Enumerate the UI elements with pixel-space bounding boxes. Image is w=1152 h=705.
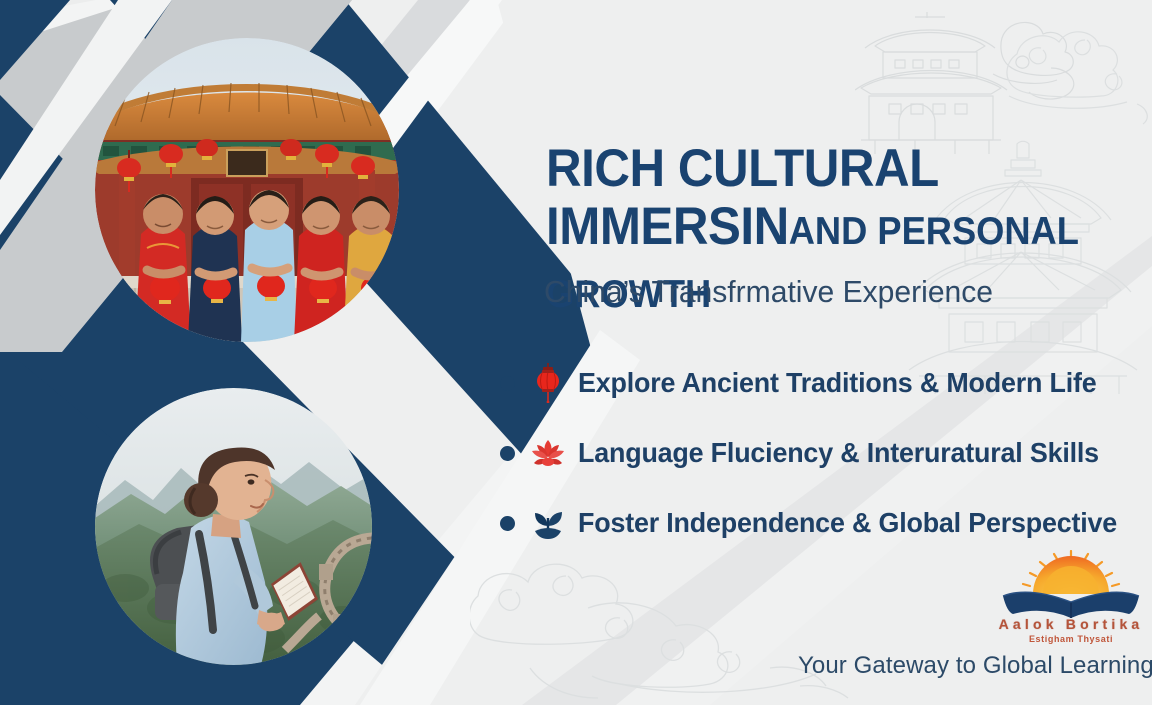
list-item: Language Fluciency & Interuratural Skill… [500,430,1140,476]
brand-logo[interactable]: Aalok Bortika Estigham Thysati [991,550,1151,650]
poster-canvas: RICH CULTURAL IMMERSINAND PERSONAL GROWT… [0,0,1152,705]
content-column: RICH CULTURAL IMMERSINAND PERSONAL GROWT… [536,0,1152,705]
red-lotus-icon [528,431,568,475]
photo-temple-students [95,38,399,342]
footer-tagline: Your Gateway to Global Learning [798,652,1152,680]
list-item-label: Foster Independence & Global Perspective [578,507,1117,539]
list-item-label: Explore Ancient Traditions & Modern Life [578,367,1097,399]
seedling-icon [528,501,568,545]
page-subtitle: China’s Transfrmative Experience [544,274,993,310]
logo-wordmark: Aalok Bortika [991,616,1151,632]
sunrise-over-open-book-icon [991,550,1151,618]
photo-great-wall-student [95,388,372,665]
bullet-dot-icon [500,446,515,461]
bullet-dot-icon [500,516,515,531]
headline-emphasis: IMMERSIN [546,197,789,256]
student-with-backpack-reading-at-great-wall [95,388,372,665]
headline-line-1: RICH CULTURAL [546,140,1110,198]
logo-tagline: Estigham Thysati [991,634,1151,644]
students-in-traditional-chinese-dress-with-lanterns [95,38,399,342]
bullet-dot-icon [500,376,515,391]
red-lantern-icon [528,361,568,405]
list-item: Foster Independence & Global Perspective [500,500,1140,546]
benefits-list: Explore Ancient Traditions & Modern Life [500,360,1140,570]
list-item: Explore Ancient Traditions & Modern Life [500,360,1140,406]
list-item-label: Language Fluciency & Interuratural Skill… [578,437,1099,469]
